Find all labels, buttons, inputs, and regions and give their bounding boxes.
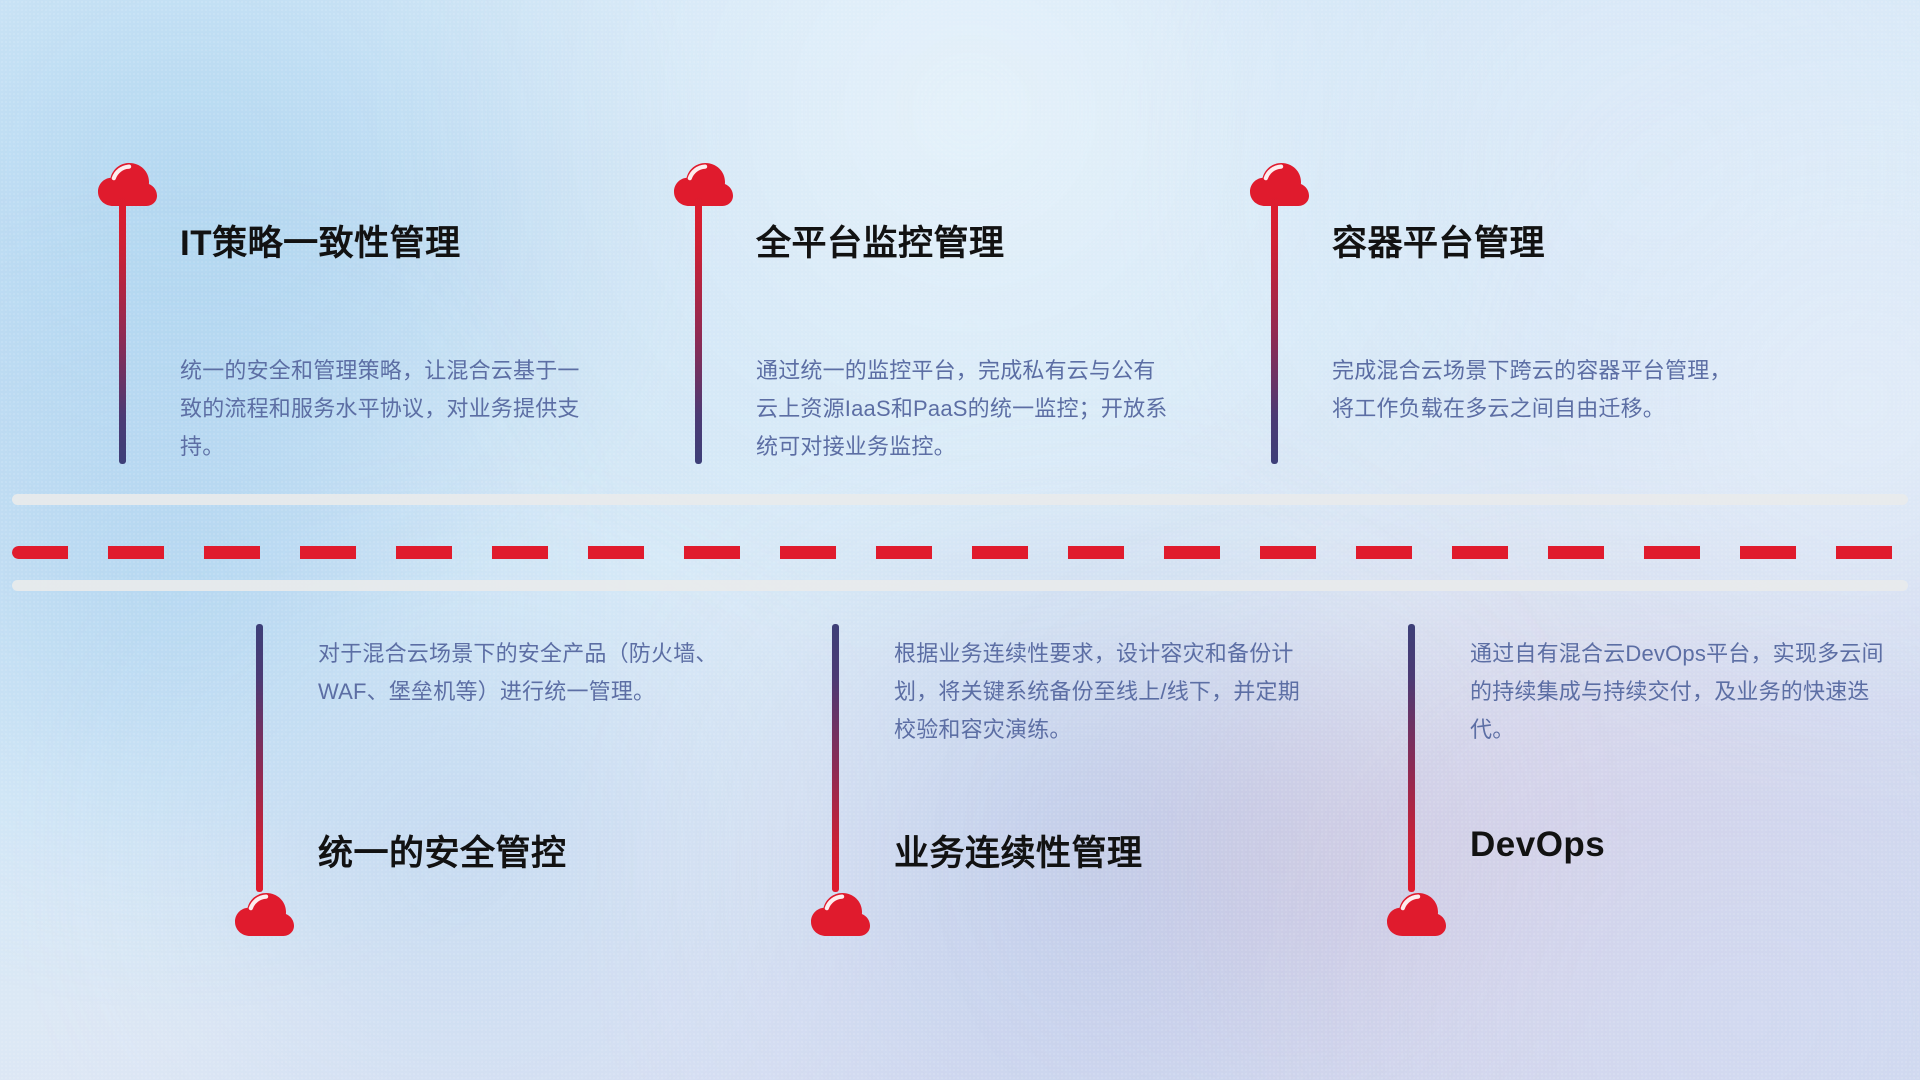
cloud-icon [1385, 890, 1447, 938]
card-description: 对于混合云场景下的安全产品（防火墙、WAF、堡垒机等）进行统一管理。 [318, 635, 738, 711]
cloud-icon [809, 890, 871, 938]
connector-stem [832, 624, 839, 892]
card-title: 容器平台管理 [1332, 215, 1545, 266]
card-title: IT策略一致性管理 [180, 215, 461, 266]
cloud-icon [96, 160, 158, 208]
cloud-icon [233, 890, 295, 938]
connector-stem [1408, 624, 1415, 892]
card-title: 业务连续性管理 [894, 825, 1143, 876]
connector-stem [256, 624, 263, 892]
divider-rail-bottom [12, 580, 1908, 591]
card-description: 完成混合云场景下跨云的容器平台管理，将工作负载在多云之间自由迁移。 [1332, 352, 1752, 428]
divider-dashed-line [12, 546, 1908, 559]
card-description: 根据业务连续性要求，设计容灾和备份计划，将关键系统备份至线上/线下，并定期校验和… [894, 635, 1314, 749]
card-description: 通过统一的监控平台，完成私有云与公有云上资源IaaS和PaaS的统一监控；开放系… [756, 352, 1176, 466]
divider-rail-top [12, 494, 1908, 505]
connector-stem [695, 196, 702, 464]
card-title: 全平台监控管理 [756, 215, 1005, 266]
connector-stem [1271, 196, 1278, 464]
card-description: 通过自有混合云DevOps平台，实现多云间的持续集成与持续交付，及业务的快速迭代… [1470, 635, 1890, 749]
card-description: 统一的安全和管理策略，让混合云基于一致的流程和服务水平协议，对业务提供支持。 [180, 352, 590, 466]
card-title: 统一的安全管控 [318, 825, 567, 876]
infographic-stage: IT策略一致性管理 统一的安全和管理策略，让混合云基于一致的流程和服务水平协议，… [0, 0, 1920, 1080]
card-title: DevOps [1470, 825, 1605, 865]
cloud-icon [1248, 160, 1310, 208]
cloud-icon [672, 160, 734, 208]
connector-stem [119, 196, 126, 464]
